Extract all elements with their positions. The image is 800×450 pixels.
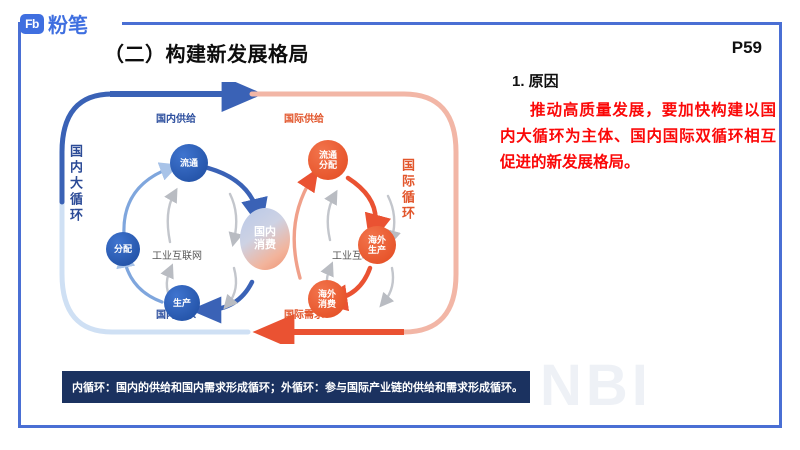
label-domestic-great-circulation: 国内大循环: [66, 144, 85, 224]
node-overseas-consumption: 海外 消费: [308, 280, 346, 318]
spoke-right-down: [230, 194, 236, 240]
node-domestic-distribution: 分配: [106, 232, 140, 266]
arc-overseas-consumption-to-distribution: [294, 178, 312, 278]
arc-distribution-to-circulation: [124, 168, 170, 234]
node-domestic-consumption-label: 国内 消费: [254, 226, 276, 252]
arc-circulation-to-consumption: [208, 168, 258, 214]
brand-name: 粉笔: [48, 9, 88, 38]
fenbi-logo-icon: Fb: [20, 14, 44, 34]
label-international-circulation: 国际循环: [398, 158, 417, 222]
summary-banner-text: 内循环：国内的供给和国内需求形成循环；外循环：参与国际产业链的供给和需求形成循环…: [62, 379, 523, 395]
node-overseas-production: 海外 生产: [358, 226, 396, 264]
frame-left-border: [18, 22, 21, 428]
node-intl-circulation-distribution-label: 流通 分配: [319, 150, 337, 170]
node-overseas-consumption-label: 海外 消费: [318, 289, 336, 309]
node-domestic-circulation: 流通: [170, 144, 208, 182]
arc-consumption-to-production: [206, 282, 252, 310]
frame-right-border: [779, 22, 782, 428]
reason-heading: 1. 原因: [512, 70, 559, 91]
label-international-supply: 国际供给: [284, 110, 324, 125]
outer-domestic-loop-path: [62, 94, 248, 332]
page-number: P59: [732, 38, 762, 58]
slide-canvas: Fb 粉笔 （二）构建新发展格局 P59 1. 原因 推动高质量发展，要加快构建…: [0, 0, 800, 450]
label-domestic-supply: 国内供给: [156, 110, 196, 125]
arc-distribution-to-overseas-production: [348, 178, 376, 230]
frame-top-border: [122, 22, 782, 25]
dual-circulation-diagram: 国内大循环 国际循环 国内供给 国际供给 国内需求 国际需求 工业互联网 工业互…: [52, 82, 472, 342]
outer-international-loop-path: [252, 94, 456, 332]
summary-banner: 内循环：国内的供给和国内需求形成循环；外循环：参与国际产业链的供给和需求形成循环…: [62, 371, 530, 403]
background-watermark: NBI: [540, 352, 652, 419]
spoke-r-left-up: [328, 196, 334, 240]
label-industrial-internet-left: 工业互联网: [152, 247, 202, 262]
frame-bottom-border: [18, 425, 782, 428]
spoke-right-dn2: [228, 268, 236, 304]
node-domestic-production: 生产: [164, 285, 200, 321]
node-intl-circulation-distribution: 流通 分配: [308, 140, 348, 180]
node-domestic-consumption: 国内 消费: [240, 208, 290, 270]
brand-logo: Fb 粉笔: [20, 9, 88, 38]
page-title: （二）构建新发展格局: [104, 38, 309, 67]
spoke-r-right-dn2: [384, 268, 393, 302]
spoke-left-up: [168, 194, 174, 242]
reason-body-text: 推动高质量发展，要加快构建以国内大循环为主体、国内国际双循环相互促进的新发展格局…: [500, 98, 776, 176]
node-overseas-production-label: 海外 生产: [368, 235, 386, 255]
